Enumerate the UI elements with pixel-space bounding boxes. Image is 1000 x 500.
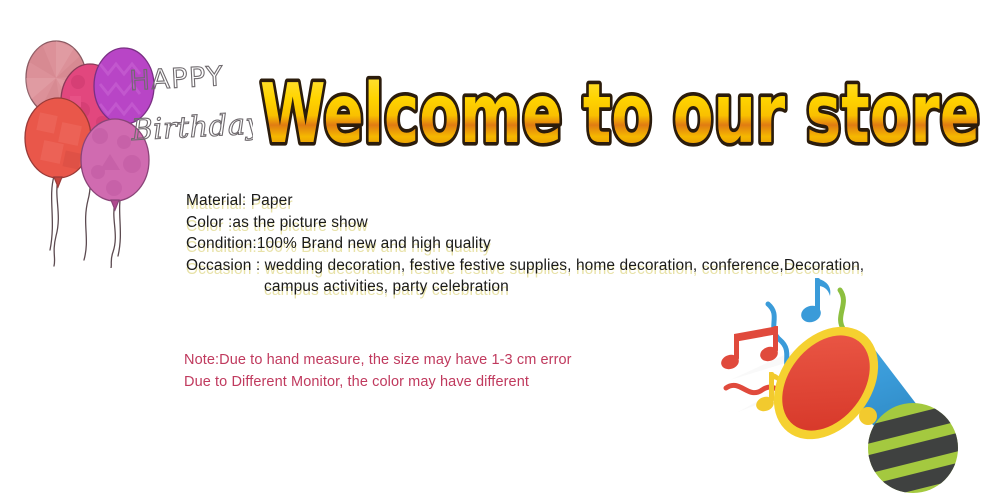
spec-line-text: Occasion : wedding decoration, festive f… — [186, 257, 864, 274]
spec-line-text: Color :as the picture show — [186, 214, 368, 231]
note-line: Due to Different Monitor, the color may … — [184, 371, 784, 393]
spec-line: Color :as the picture show Color :as the… — [186, 212, 946, 234]
spec-line: Occasion : wedding decoration, festive f… — [186, 255, 946, 277]
balloon-icon-4 — [25, 98, 91, 187]
spec-line: Material: Paper Material: Paper — [186, 190, 946, 212]
popper-dot-yellow — [859, 407, 877, 425]
greeting-line-1: HAPPY — [129, 61, 225, 97]
spec-line-text: Material: Paper — [186, 192, 293, 209]
party-popper-illustration — [716, 276, 1000, 500]
happy-birthday-greeting: HAPPY Birthday — [128, 52, 253, 167]
spec-line: Condition:100% Brand new and high qualit… — [186, 233, 946, 255]
disclaimer-note: Note:Due to hand measure, the size may h… — [184, 349, 784, 393]
promo-banner: HAPPY Birthday Welcome to our store Welc… — [0, 0, 1000, 500]
page-title-fill: Welcome to our store — [260, 66, 980, 161]
note-line: Note:Due to hand measure, the size may h… — [184, 349, 784, 371]
greeting-line-2: Birthday — [130, 106, 253, 147]
spec-line-text: campus activities, party celebration — [264, 278, 509, 295]
spec-line-text: Condition:100% Brand new and high qualit… — [186, 235, 491, 252]
music-note-icon-blue — [799, 278, 830, 325]
page-title: Welcome to our store Welcome to our stor… — [250, 62, 990, 162]
